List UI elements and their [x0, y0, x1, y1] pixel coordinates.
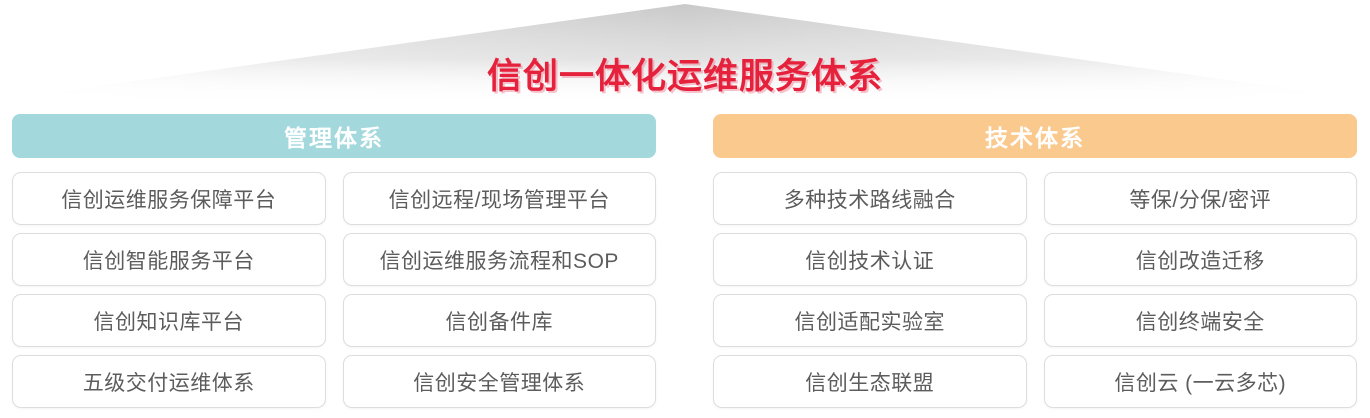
- panel-technology-system: 技术体系 多种技术路线融合 等保/分保/密评 信创技术认证 信创改造迁移 信创适…: [713, 114, 1357, 408]
- card-item[interactable]: 信创运维服务流程和SOP: [343, 233, 657, 286]
- card-item[interactable]: 信创云 (一云多芯): [1044, 355, 1358, 408]
- card-item[interactable]: 信创改造迁移: [1044, 233, 1358, 286]
- card-item[interactable]: 信创备件库: [343, 294, 657, 347]
- card-item[interactable]: 信创生态联盟: [713, 355, 1027, 408]
- card-item[interactable]: 信创安全管理体系: [343, 355, 657, 408]
- card-grid-technology: 多种技术路线融合 等保/分保/密评 信创技术认证 信创改造迁移 信创适配实验室 …: [713, 172, 1357, 408]
- card-item[interactable]: 信创运维服务保障平台: [12, 172, 326, 225]
- panel-management-system: 管理体系 信创运维服务保障平台 信创远程/现场管理平台 信创智能服务平台 信创运…: [12, 114, 656, 408]
- card-item[interactable]: 信创知识库平台: [12, 294, 326, 347]
- panel-header-management: 管理体系: [12, 114, 656, 158]
- card-item[interactable]: 信创适配实验室: [713, 294, 1027, 347]
- page-title: 信创一体化运维服务体系: [0, 55, 1370, 99]
- panel-header-technology: 技术体系: [713, 114, 1357, 158]
- card-item[interactable]: 信创远程/现场管理平台: [343, 172, 657, 225]
- card-item[interactable]: 信创智能服务平台: [12, 233, 326, 286]
- card-item[interactable]: 五级交付运维体系: [12, 355, 326, 408]
- card-item[interactable]: 等保/分保/密评: [1044, 172, 1358, 225]
- card-item[interactable]: 信创技术认证: [713, 233, 1027, 286]
- card-item[interactable]: 多种技术路线融合: [713, 172, 1027, 225]
- card-item[interactable]: 信创终端安全: [1044, 294, 1358, 347]
- card-grid-management: 信创运维服务保障平台 信创远程/现场管理平台 信创智能服务平台 信创运维服务流程…: [12, 172, 656, 408]
